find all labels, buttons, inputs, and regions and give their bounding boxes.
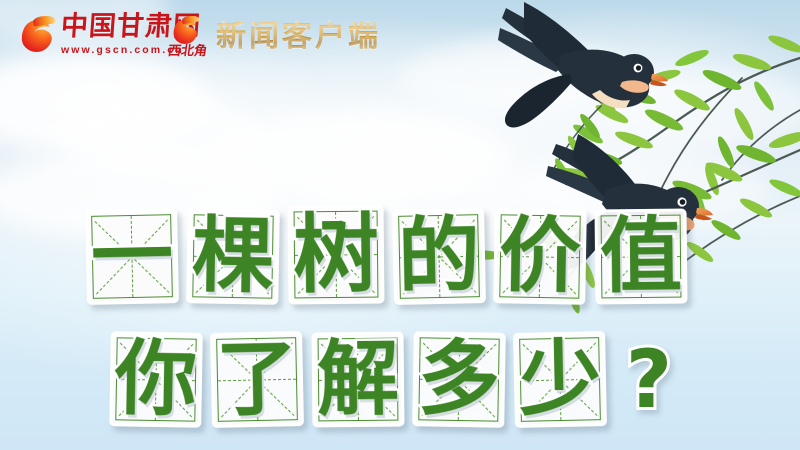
brand-header: 中国甘肃网 www.gscn.com.cn 西北角 新闻客户端 [0,0,800,78]
gansu-net-swirl-icon [20,14,54,56]
xibeijiao-logo[interactable]: 西北角 新闻客户端 [168,15,381,58]
headline-char-cell: 多 [412,331,506,428]
headline-question-mark: ? [618,332,680,427]
xibeijiao-swirl-icon [172,15,198,47]
xibeijiao-mark: 西北角 [167,45,208,58]
poster-canvas: 中国甘肃网 www.gscn.com.cn 西北角 新闻客户端 一 [0,0,800,450]
headline-char: 一 [88,211,176,302]
headline-char-cell: 棵 [186,208,280,305]
headline-char: 树 [291,208,382,302]
headline-char: 多 [415,334,503,424]
headline-char: 了 [213,334,301,425]
headline-char-cell: 价 [493,208,587,305]
headline-char-cell: 你 [109,331,203,428]
headline-line-2: 你 了 解 [110,332,680,427]
headline-char-cell: 值 [595,209,688,305]
headline-char: 的 [395,211,483,302]
headline-char: 价 [496,211,584,301]
headline-char-cell: 少 [513,331,607,428]
headline-char-cell: 了 [210,331,304,428]
headline-char: 少 [516,334,604,425]
headline-char: 棵 [189,211,277,301]
headline-line-1: 一 棵 树 [86,205,696,304]
headline-char-cell: 树 [287,205,384,305]
headline-char: 你 [112,334,200,424]
headline-char: 值 [598,212,685,302]
headline-char-cell: 解 [312,332,405,428]
headline-char-cell: 一 [85,208,179,305]
headline-char: 解 [315,335,402,425]
headline-char-cell: 的 [392,208,486,305]
news-client-name: 新闻客户端 [216,22,381,52]
